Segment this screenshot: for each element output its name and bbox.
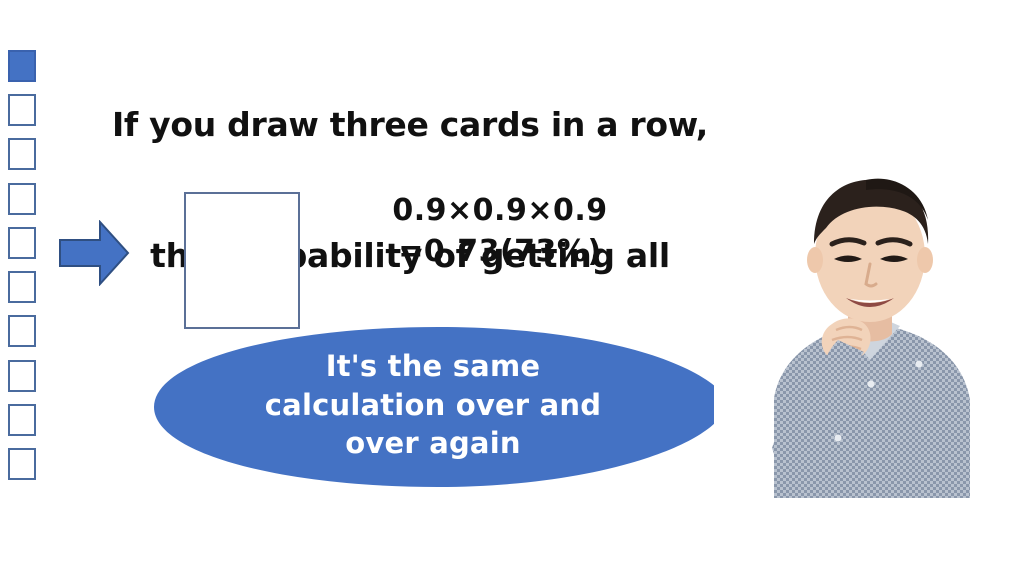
bubble-line-2: calculation over and — [193, 386, 673, 425]
equation-line-1: 0.9×0.9×0.9 — [330, 190, 670, 231]
strip-card-8 — [8, 360, 36, 392]
strip-card-7 — [8, 315, 36, 347]
strip-card-6 — [8, 271, 36, 303]
strip-card-1 — [8, 50, 36, 82]
bubble-line-1: It's the same — [193, 347, 673, 386]
blank-card-outline — [184, 192, 300, 329]
equation-text: 0.9×0.9×0.9 =0.73(73%) — [330, 190, 670, 272]
equation-line-2: =0.73(73%) — [330, 231, 670, 272]
speech-bubble: It's the same calculation over and over … — [148, 325, 748, 491]
strip-card-10 — [8, 448, 36, 480]
headline-line-1: If you draw three cards in a row, — [60, 103, 760, 147]
strip-card-5 — [8, 227, 36, 259]
card-strip — [8, 50, 38, 480]
strip-card-4 — [8, 183, 36, 215]
slide-canvas: If you draw three cards in a row, the pr… — [0, 0, 1024, 582]
right-arrow-icon — [58, 220, 130, 286]
strip-card-3 — [8, 138, 36, 170]
person-photo — [714, 148, 1024, 498]
strip-card-2 — [8, 94, 36, 126]
speech-bubble-text: It's the same calculation over and over … — [193, 347, 673, 463]
strip-card-9 — [8, 404, 36, 436]
bubble-line-3: over again — [193, 424, 673, 463]
